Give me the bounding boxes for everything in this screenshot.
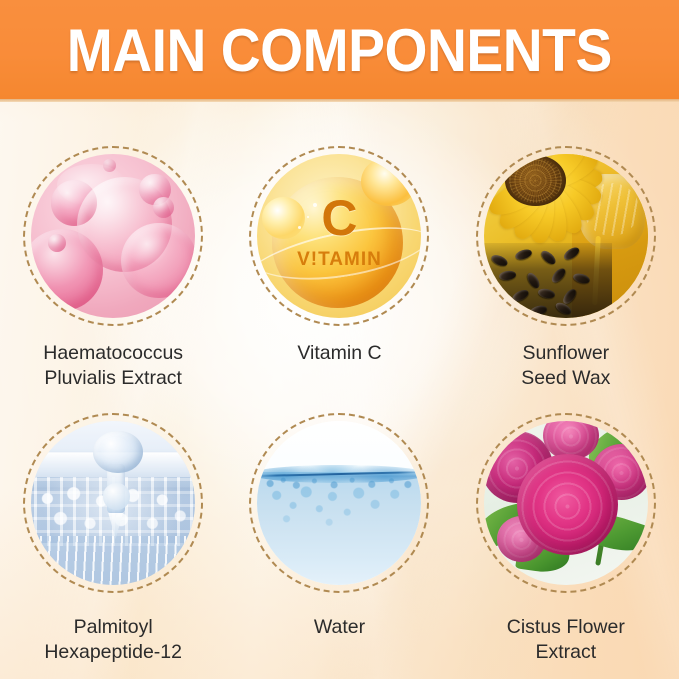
component-item-sunflower[interactable]: Sunflower Seed Wax — [453, 110, 679, 391]
dashed-ring — [476, 413, 656, 593]
component-label: Sunflower Seed Wax — [466, 341, 666, 391]
component-label: Palmitoyl Hexapeptide-12 — [13, 615, 213, 665]
component-label: Cistus Flower Extract — [466, 615, 666, 665]
component-label-line1: Sunflower — [466, 341, 666, 366]
droplet-word-vitamin: V!TAMIN — [257, 249, 421, 271]
component-item-palmitoyl[interactable]: Palmitoyl Hexapeptide-12 — [0, 391, 226, 670]
component-label-line2: Pluvialis Extract — [13, 366, 213, 391]
component-label: Vitamin C — [239, 341, 439, 366]
pink-algae-bubbles-image — [31, 154, 195, 318]
component-label-line2: Extract — [466, 640, 666, 665]
components-grid: Haematococcus Pluvialis Extract C V!TAMI… — [0, 110, 679, 670]
sunflower-petals — [484, 154, 615, 252]
component-item-haematococcus[interactable]: Haematococcus Pluvialis Extract — [0, 110, 226, 391]
water-surface-image — [257, 421, 421, 585]
component-item-vitamin-c[interactable]: C V!TAMIN Vitamin C — [226, 110, 452, 391]
component-label-line1: Haematococcus — [13, 341, 213, 366]
sunflower-seeds — [484, 243, 612, 318]
component-label-line2: Seed Wax — [466, 366, 666, 391]
component-item-cistus[interactable]: Cistus Flower Extract — [453, 391, 679, 670]
sunflower-seed-oil-image — [484, 154, 648, 318]
component-label: Haematococcus Pluvialis Extract — [13, 341, 213, 391]
component-label-line1: Vitamin C — [239, 341, 439, 366]
component-label-line2: Hexapeptide-12 — [13, 640, 213, 665]
peptide-skin-structure-image — [31, 421, 195, 585]
sunflower-disk — [505, 155, 566, 206]
component-label: Water — [239, 615, 439, 640]
component-label-line1: Cistus Flower — [466, 615, 666, 640]
dashed-ring — [23, 146, 203, 326]
header-banner: MAIN COMPONENTS — [0, 0, 679, 99]
dashed-ring — [476, 146, 656, 326]
dashed-ring — [23, 413, 203, 593]
main-components-poster: MAIN COMPONENTS Haematococcus — [0, 0, 679, 679]
dashed-ring — [249, 413, 429, 593]
page-title: MAIN COMPONENTS — [67, 21, 612, 81]
droplet-letter-c: C — [257, 193, 421, 243]
component-label-line1: Water — [239, 615, 439, 640]
component-label-line1: Palmitoyl — [13, 615, 213, 640]
banner-divider — [0, 99, 679, 102]
dashed-ring: C V!TAMIN — [249, 146, 429, 326]
vitamin-c-droplet-image: C V!TAMIN — [257, 154, 421, 318]
component-item-water[interactable]: Water — [226, 391, 452, 670]
cistus-rose-flowers-image — [484, 421, 648, 585]
